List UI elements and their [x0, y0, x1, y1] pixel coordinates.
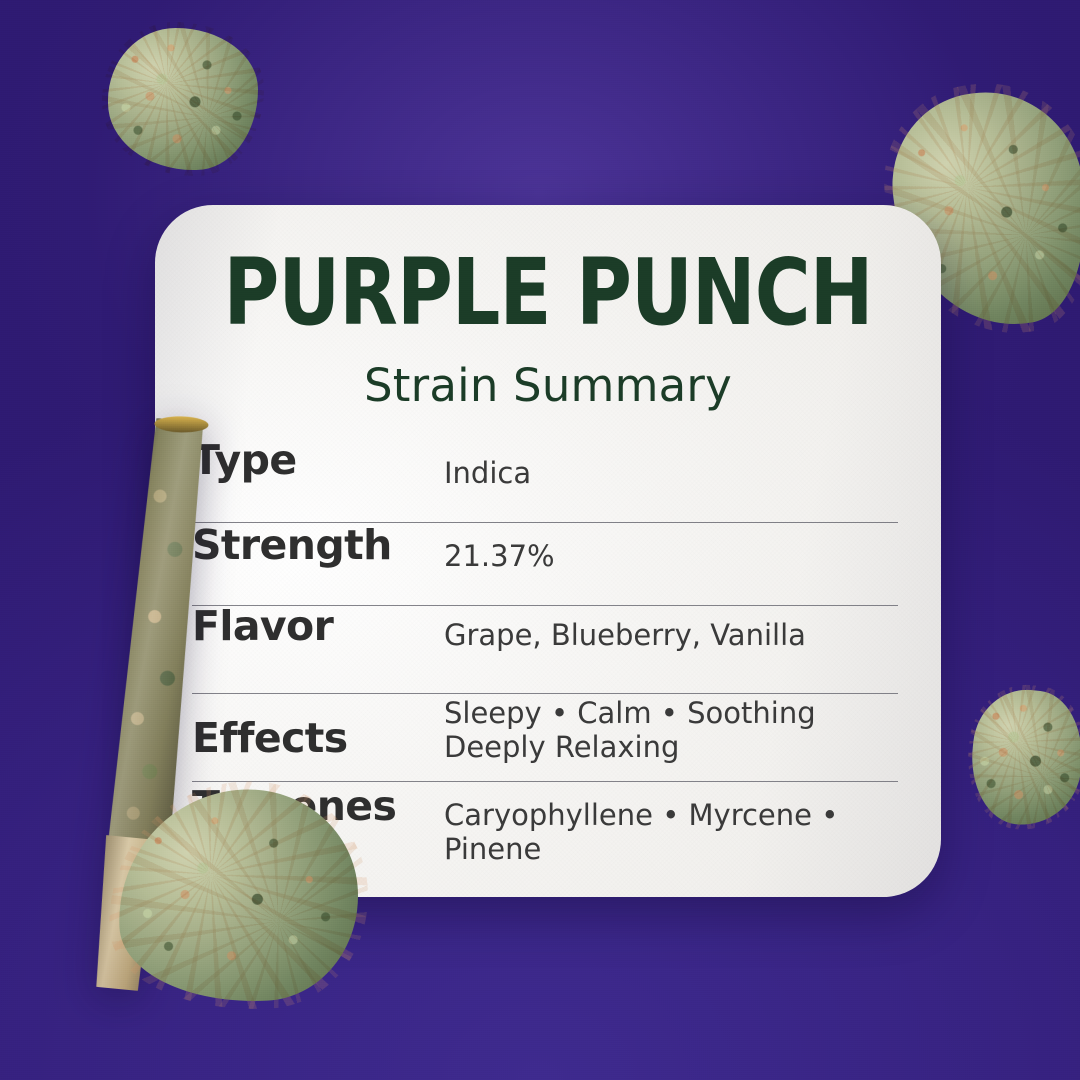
bud-hairs	[102, 22, 264, 175]
bud-texture	[108, 28, 258, 170]
spec-value-flavor: Grape, Blueberry, Vanilla	[444, 606, 904, 652]
spec-value-type: Indica	[444, 440, 904, 490]
spec-label-type: Type	[192, 440, 444, 482]
bud-texture	[965, 685, 1080, 831]
table-row: Terpenes Caryophyllene • Myrcene • Pinen…	[192, 782, 904, 862]
spec-value-effects: Sleepy • Calm • Soothing Deeply Relaxing	[444, 694, 904, 764]
spec-label-strength: Strength	[192, 523, 444, 567]
page-subtitle: Strain Summary	[155, 363, 941, 408]
table-row: Type Indica	[192, 440, 904, 522]
strain-spec-table: Type Indica Strength 21.37% Flavor Grape…	[192, 440, 904, 862]
preroll-filter-tip	[88, 835, 160, 992]
strain-summary-card: PURPLE PUNCH Strain Summary Type Indica …	[155, 205, 941, 897]
bud-hairs	[960, 679, 1080, 836]
spec-label-flavor: Flavor	[192, 606, 444, 648]
table-row: Strength 21.37%	[192, 523, 904, 605]
cannabis-bud-icon	[965, 685, 1080, 831]
spec-value-strength: 21.37%	[444, 523, 904, 573]
spec-label-effects: Effects	[192, 694, 444, 760]
bud-body	[108, 28, 258, 170]
strain-summary-graphic: PURPLE PUNCH Strain Summary Type Indica …	[0, 0, 1080, 1080]
page-title: PURPLE PUNCH	[186, 247, 909, 339]
table-row: Flavor Grape, Blueberry, Vanilla	[192, 606, 904, 693]
bud-body	[965, 685, 1080, 831]
spec-label-terpenes: Terpenes	[192, 782, 444, 828]
table-row: Effects Sleepy • Calm • Soothing Deeply …	[192, 694, 904, 781]
spec-value-terpenes: Caryophyllene • Myrcene • Pinene	[444, 782, 904, 866]
cannabis-bud-icon	[108, 28, 258, 170]
